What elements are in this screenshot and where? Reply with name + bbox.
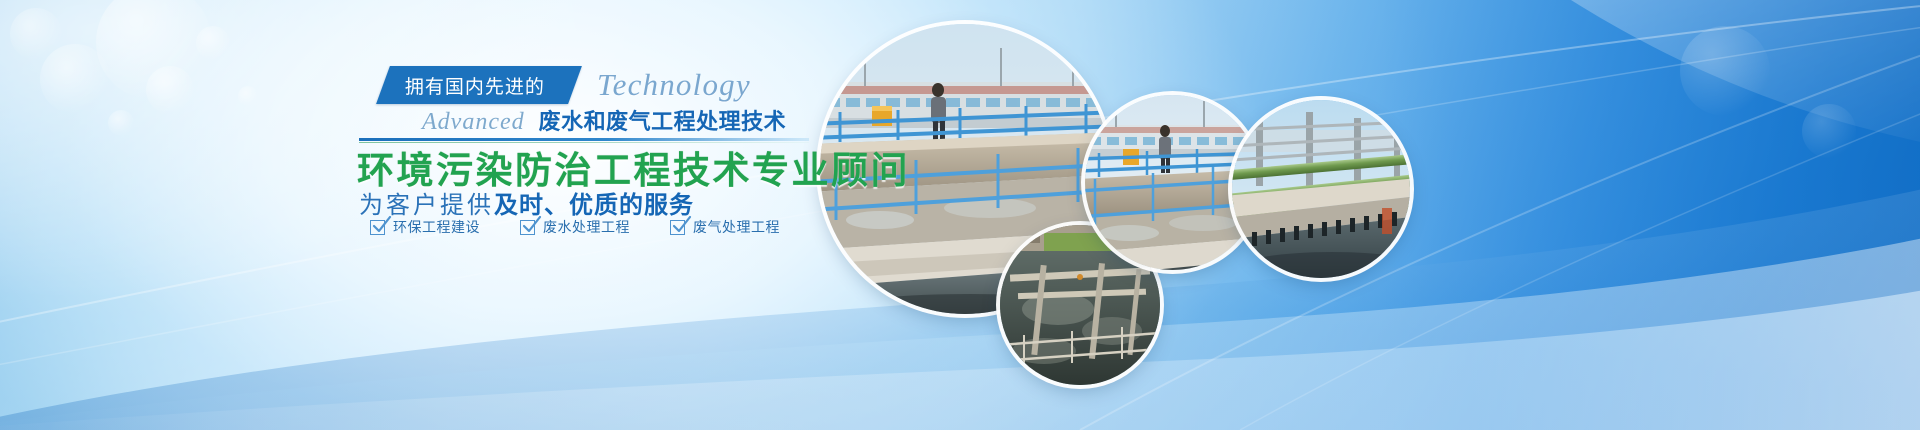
check-glyph — [371, 215, 391, 235]
list-item-label: 废气处理工程 — [693, 217, 780, 237]
list-item: 废水处理工程 — [520, 217, 630, 237]
checkmark-icon — [370, 220, 385, 235]
advanced-word: Advanced — [422, 109, 525, 136]
technology-word: Technology — [597, 66, 751, 104]
highlight-tag-label: 拥有国内先进的 — [405, 72, 545, 99]
check-glyph — [671, 215, 691, 235]
promo-banner: 拥有国内先进的 Technology Advanced 废水和废气工程处理技术 … — [0, 0, 1920, 430]
green-pipeline-illustration — [1232, 100, 1410, 278]
checkmark-icon — [670, 220, 685, 235]
checkmark-icon — [520, 220, 535, 235]
check-glyph — [521, 215, 541, 235]
tagline-row: 拥有国内先进的 Technology — [383, 66, 751, 104]
subtitle-chinese: 废水和废气工程处理技术 — [539, 104, 787, 136]
banner-text-block: 拥有国内先进的 Technology Advanced 废水和废气工程处理技术 … — [0, 0, 860, 430]
list-item-label: 废水处理工程 — [543, 217, 630, 237]
subtitle-row: Advanced 废水和废气工程处理技术 — [422, 104, 842, 136]
feature-check-list: 环保工程建设 废水处理工程 废气处理工程 — [370, 217, 820, 237]
list-item: 废气处理工程 — [670, 217, 780, 237]
list-item-label: 环保工程建设 — [393, 217, 480, 237]
photo-green-pipeline-treatment-plant — [1232, 100, 1410, 278]
highlight-tag-plate: 拥有国内先进的 — [376, 66, 582, 104]
list-item: 环保工程建设 — [370, 217, 480, 237]
